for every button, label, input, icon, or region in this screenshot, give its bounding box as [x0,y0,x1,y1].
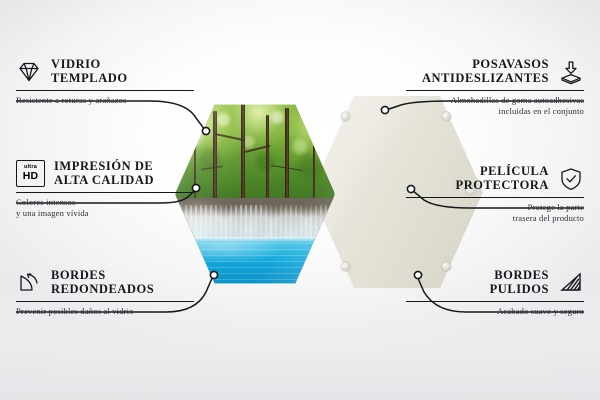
tree-trunk [285,108,288,212]
feature-rule [406,301,584,302]
feature-rule [16,90,194,91]
feature-rule [406,197,584,198]
diamond-icon [16,59,42,85]
feature-title: BORDES REDONDEADOS [51,269,154,296]
shield-check-icon [558,166,584,192]
feature-polished-edges: BORDES PULIDOS Acabado suave y seguro [406,269,584,317]
feature-rule [16,192,194,193]
feature-title: POSAVASOS ANTIDESLIZANTES [422,58,549,85]
feature-description: Resistente a roturas y arañazos [16,95,194,106]
feature-rounded-edges: BORDES REDONDEADOS Prevenir posibles dañ… [16,269,194,317]
feature-description: Protege la parte trasera del producto [406,202,584,224]
feature-title: BORDES PULIDOS [490,269,549,296]
rubber-pad [341,262,350,271]
ultra-hd-icon-bottom: HD [23,171,39,182]
rounded-corner-icon [16,270,42,296]
waterfall-forest-photo [175,104,335,284]
hatched-triangle-icon [558,270,584,296]
feature-title: PELÍCULA PROTECTORA [456,165,549,192]
feature-tempered-glass: VIDRIO TEMPLADO Resistente a roturas y a… [16,58,194,106]
pool-surface-sheen [175,237,335,284]
feature-description: Colores intensos y una imagen vívida [16,197,194,219]
feature-rule [406,90,584,91]
feature-high-quality-print: ultra HD IMPRESIÓN DE ALTA CALIDAD Color… [16,160,194,219]
feature-description: Almohadillas de goma autoadhesivas inclu… [406,95,584,117]
feature-rule [16,301,194,302]
printed-glass-hexagon [175,104,335,284]
feature-title: IMPRESIÓN DE ALTA CALIDAD [54,160,154,187]
rubber-pad [341,112,350,121]
feature-protective-film: PELÍCULA PROTECTORA Protege la parte tra… [406,165,584,224]
tree-trunk [313,122,315,208]
infographic-canvas: VIDRIO TEMPLADO Resistente a roturas y a… [0,0,600,400]
feature-non-slip-coasters: POSAVASOS ANTIDESLIZANTES Almohadillas d… [406,58,584,117]
press-pad-icon [558,59,584,85]
feature-title: VIDRIO TEMPLADO [51,58,128,85]
ultra-hd-icon: ultra HD [16,160,45,187]
feature-description: Acabado suave y seguro [406,306,584,317]
feature-description: Prevenir posibles daños al vidrio [16,306,194,317]
